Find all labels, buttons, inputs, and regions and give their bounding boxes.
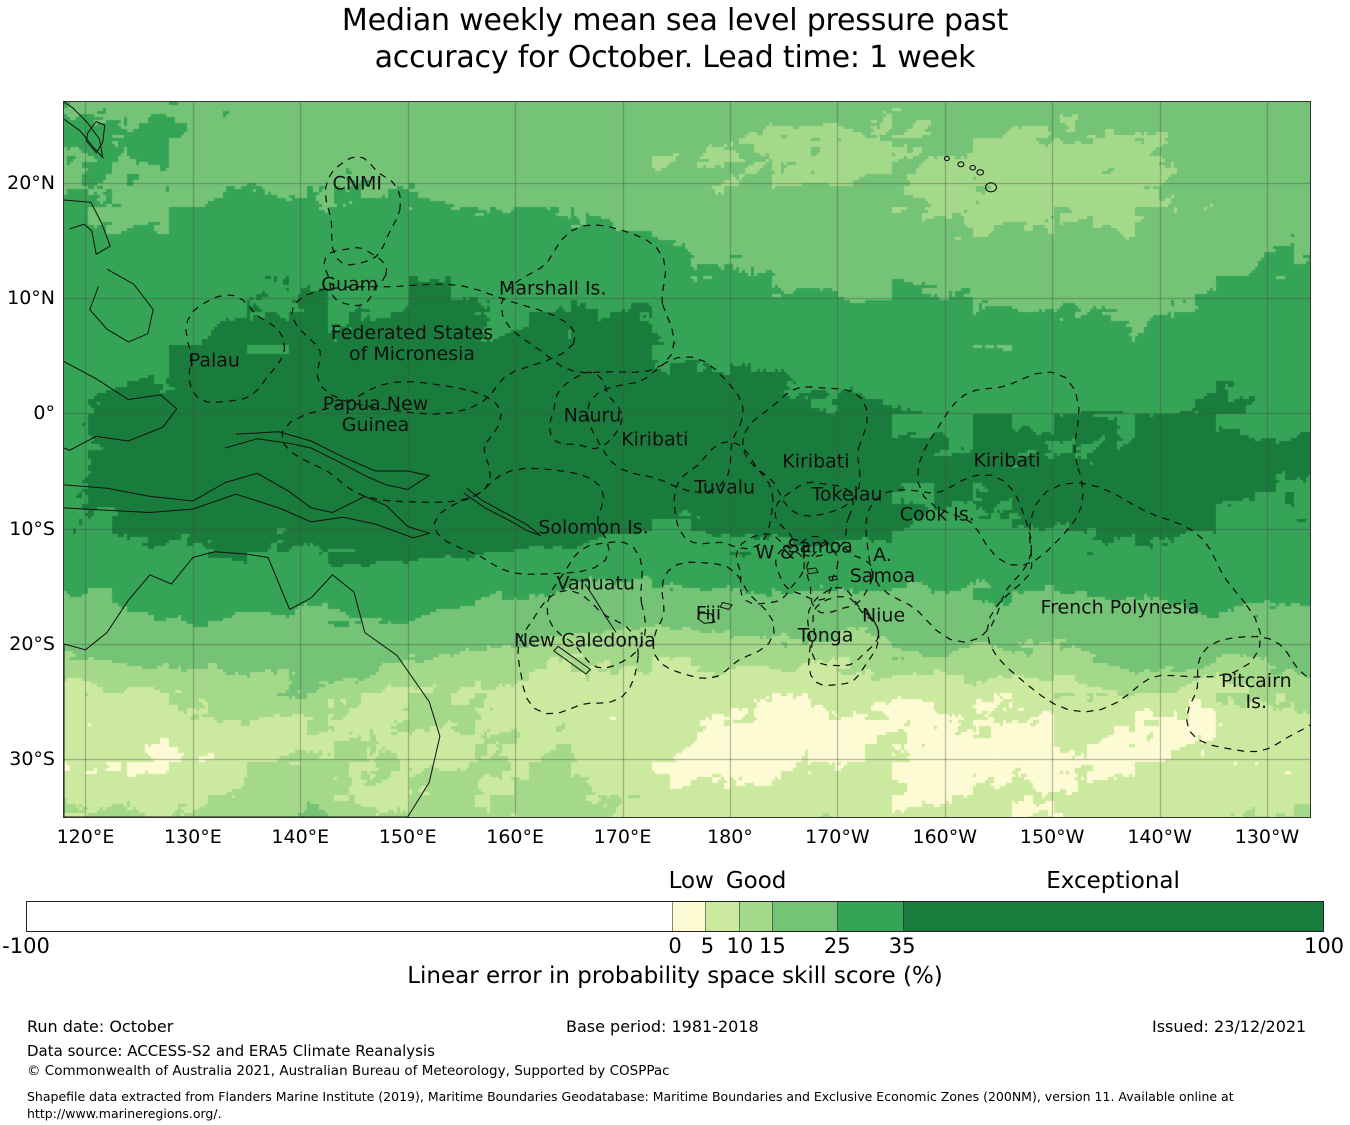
eez-tonga <box>808 588 879 686</box>
x-tick-label: 160°W <box>913 826 978 848</box>
page-title-line2: accuracy for October. Lead time: 1 week <box>0 39 1350 76</box>
x-tick-label: 120°E <box>57 826 115 848</box>
coastline-sulawesi <box>64 362 177 451</box>
x-tick-label: 150°W <box>1020 826 1085 848</box>
coastline-upolu <box>807 568 818 574</box>
eez-new-caledonia <box>518 590 638 714</box>
eez-wallis-futuna <box>736 534 804 604</box>
coastline-australia-n <box>64 552 440 817</box>
eez-tuvalu <box>674 441 773 549</box>
x-tick-label: 130°W <box>1235 826 1300 848</box>
eez-papua-new-guinea <box>282 382 501 503</box>
page-title-line1: Median weekly mean sea level pressure pa… <box>0 2 1350 39</box>
colorbar-segment <box>903 902 1323 931</box>
colorbar-title: Linear error in probability space skill … <box>0 963 1350 989</box>
data-source-text: Data source: ACCESS-S2 and ERA5 Climate … <box>27 1042 435 1060</box>
colorbar-segment <box>705 902 738 931</box>
x-tick-label: 150°E <box>379 826 437 848</box>
coastline-luzon <box>64 200 110 254</box>
eez-american-samoa <box>807 542 874 613</box>
map-plot-area[interactable]: CNMIGuamPalauFederated States of Microne… <box>63 101 1311 818</box>
x-tick-label: 130°E <box>164 826 222 848</box>
issued-date-text: Issued: 23/12/2021 <box>1152 1017 1306 1036</box>
eez-nauru <box>550 372 622 449</box>
coastline-hawaii-island <box>944 156 949 160</box>
y-tick-label: 0° <box>5 402 55 424</box>
colorbar-tick-label: -100 <box>2 934 50 958</box>
y-tick-label: 10°S <box>5 518 55 540</box>
eez-pitcairn-is <box>1186 637 1310 752</box>
colorbar-category-good: Good <box>726 868 787 894</box>
coastline-viti-levu <box>698 613 715 623</box>
eez-marshall-is <box>501 225 674 373</box>
x-tick-label: 140°E <box>271 826 329 848</box>
y-tick-label: 30°S <box>5 748 55 770</box>
shapefile-attribution-text: Shapefile data extracted from Flanders M… <box>27 1088 1327 1122</box>
coastline-png-north <box>225 432 429 490</box>
x-tick-label: 160°E <box>486 826 544 848</box>
eez-palau <box>186 295 285 403</box>
colorbar-segment <box>672 902 705 931</box>
eez-fsm <box>292 284 576 414</box>
colorbar-tick-label: 100 <box>1304 934 1344 958</box>
coastline-taiwan-china <box>64 102 103 157</box>
coastline-indonesia-png <box>64 473 429 538</box>
coastline-hawaii-island <box>977 170 984 175</box>
colorbar-category-exceptional: Exceptional <box>1046 868 1180 894</box>
coastline-taiwan <box>87 122 105 153</box>
coastline-hawaii-island <box>970 165 976 170</box>
eez-french-polynesia <box>987 483 1261 712</box>
y-tick-label: 20°S <box>5 633 55 655</box>
y-tick-label: 10°N <box>5 287 55 309</box>
colorbar-segment <box>837 902 903 931</box>
run-date-text: Run date: October <box>27 1017 173 1036</box>
eez-cnmi <box>325 156 400 265</box>
eez-fiji <box>653 562 774 678</box>
coastline-new-caledonia <box>554 646 591 674</box>
colorbar-segment <box>772 902 838 931</box>
coastline-vanua-levu <box>720 603 732 610</box>
x-tick-label: 180° <box>707 826 753 848</box>
colorbar-tick-label: 35 <box>889 934 916 958</box>
x-tick-label: 170°W <box>805 826 870 848</box>
colorbar-tick-label: 0 <box>668 934 681 958</box>
x-tick-label: 170°E <box>594 826 652 848</box>
coastline-hawaii-island <box>958 162 964 167</box>
colorbar-category-low: Low <box>669 868 714 894</box>
colorbar-segment <box>27 902 672 931</box>
base-period-text: Base period: 1981-2018 <box>566 1017 759 1036</box>
eez-tokelau <box>775 482 853 556</box>
colorbar-tick-label: 5 <box>701 934 714 958</box>
map-vector-overlay <box>64 102 1310 817</box>
colorbar-tick-label: 25 <box>824 934 851 958</box>
coastline-hawaii-island <box>985 183 996 192</box>
eez-kiribati-gilbert <box>587 357 743 492</box>
copyright-text: © Commonwealth of Australia 2021, Austra… <box>27 1063 670 1079</box>
x-tick-label: 140°W <box>1127 826 1192 848</box>
colorbar-segment <box>739 902 772 931</box>
eez-kiribati-phoenix <box>743 387 868 516</box>
colorbar-tick-label: 10 <box>727 934 754 958</box>
y-tick-label: 20°N <box>5 172 55 194</box>
coastline-vanuatu <box>585 584 616 633</box>
eez-cook-is <box>866 475 1032 642</box>
page-title: Median weekly mean sea level pressure pa… <box>0 2 1350 76</box>
eez-kiribati-line <box>918 372 1083 565</box>
colorbar-tick-label: 15 <box>759 934 786 958</box>
colorbar[interactable] <box>26 901 1324 932</box>
eez-guam <box>324 248 386 306</box>
coastline-philippines <box>90 269 153 342</box>
